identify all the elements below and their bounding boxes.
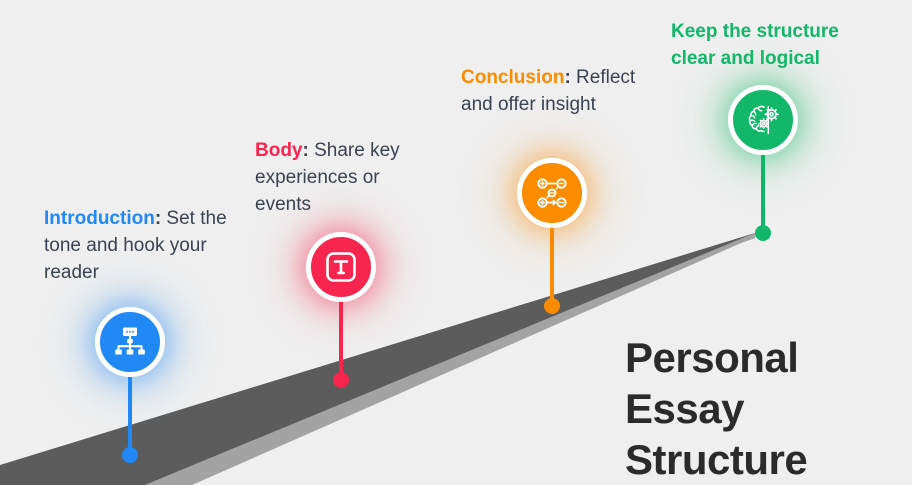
marker-dot-structure[interactable] xyxy=(755,225,771,241)
caption-introduction: Introduction: Set the tone and hook your… xyxy=(44,205,229,286)
marker-stem-introduction xyxy=(128,372,132,455)
page-title-line-1: Personal Essay xyxy=(625,332,875,434)
marker-dot-conclusion[interactable] xyxy=(544,298,560,314)
marker-circle-body[interactable] xyxy=(306,232,376,302)
page-title-line-2: Structure xyxy=(625,434,875,485)
marker-stem-conclusion xyxy=(550,223,554,306)
caption-structure: Keep the structure clear and logical xyxy=(671,18,856,72)
caption-body: Body: Share key experiences or events xyxy=(255,137,405,218)
marker-stem-structure xyxy=(761,150,765,233)
marker-circle-structure[interactable] xyxy=(728,85,798,155)
sitemap-icon xyxy=(113,325,147,359)
caption-lead-introduction: Introduction xyxy=(44,208,155,229)
caption-lead-structure: Keep the structure clear and logical xyxy=(671,21,839,69)
brain-gears-icon xyxy=(745,102,781,138)
caption-lead-body: Body xyxy=(255,140,303,161)
marker-stem-body xyxy=(339,297,343,380)
marker-dot-body[interactable] xyxy=(333,372,349,388)
caption-conclusion: Conclusion: Reflect and offer insight xyxy=(461,64,641,118)
marker-dot-introduction[interactable] xyxy=(122,447,138,463)
infographic-canvas: Introduction: Set the tone and hook your… xyxy=(0,0,912,485)
text-t-icon xyxy=(324,250,358,284)
caption-lead-conclusion: Conclusion xyxy=(461,67,564,88)
page-title: Personal Essay Structure xyxy=(625,332,875,485)
marker-circle-conclusion[interactable] xyxy=(517,158,587,228)
marker-circle-introduction[interactable] xyxy=(95,307,165,377)
node-network-icon xyxy=(535,176,569,210)
